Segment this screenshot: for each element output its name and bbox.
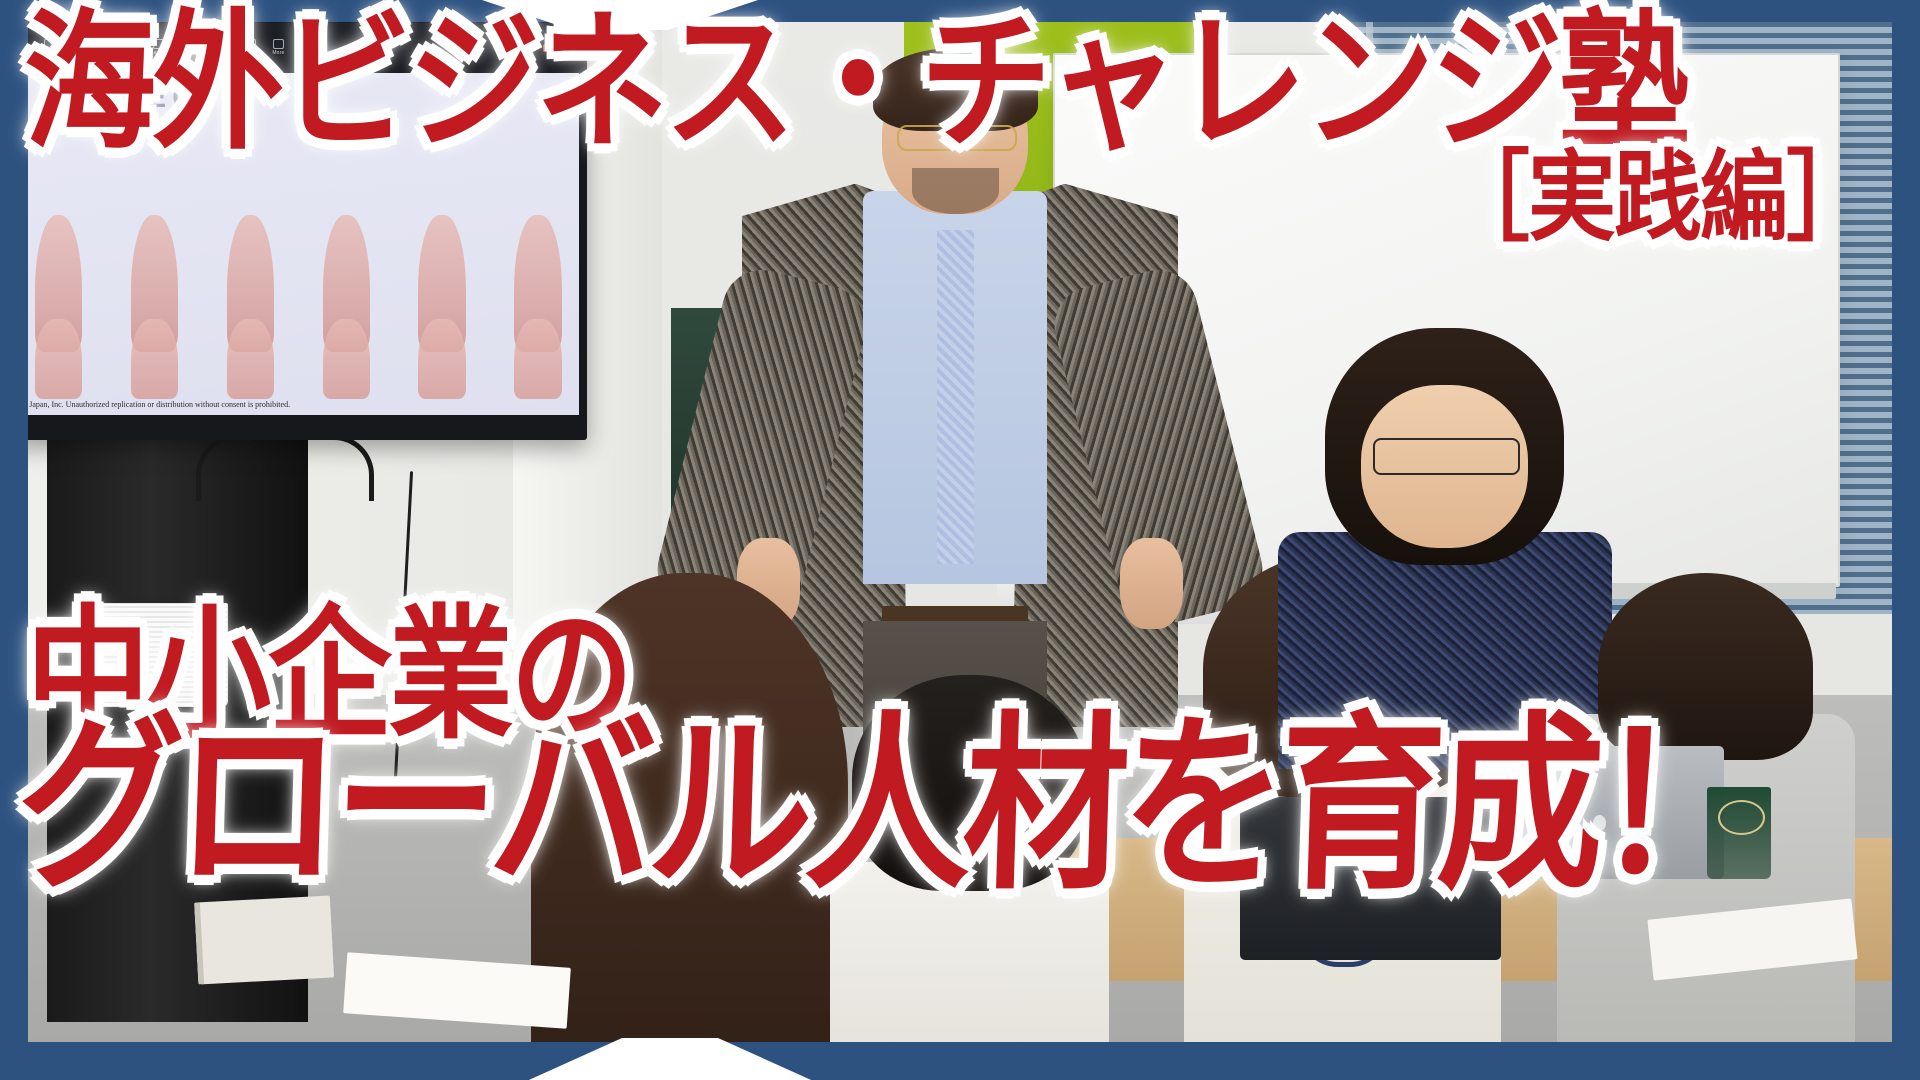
hand-icon [323, 319, 370, 399]
hand-icon [131, 319, 178, 399]
hand-gesture-row-2 [35, 305, 562, 399]
slide-copyright: Japan, Inc. Unauthorized replication or … [29, 400, 290, 409]
hand-icon [227, 319, 274, 399]
presenter-shirt [863, 191, 1047, 583]
presenter-beard [912, 168, 999, 213]
glasses-icon [1373, 438, 1520, 475]
video-thumbnail: Participants Chat Share Pause [0, 0, 1920, 1080]
presenter-right-hand [1120, 538, 1183, 629]
participant-smiling-woman [1296, 328, 1594, 736]
title-main: 海外ビジネス・チャレンジ塾 [24, 8, 1687, 158]
tv-arm [196, 435, 374, 501]
hand-icon [514, 319, 561, 399]
hand-icon [418, 319, 465, 399]
hand-icon [35, 319, 82, 399]
title-sub: ［実践編］ [1442, 148, 1872, 247]
catch-line-2: グローバル人材を育成！ [14, 712, 1756, 901]
